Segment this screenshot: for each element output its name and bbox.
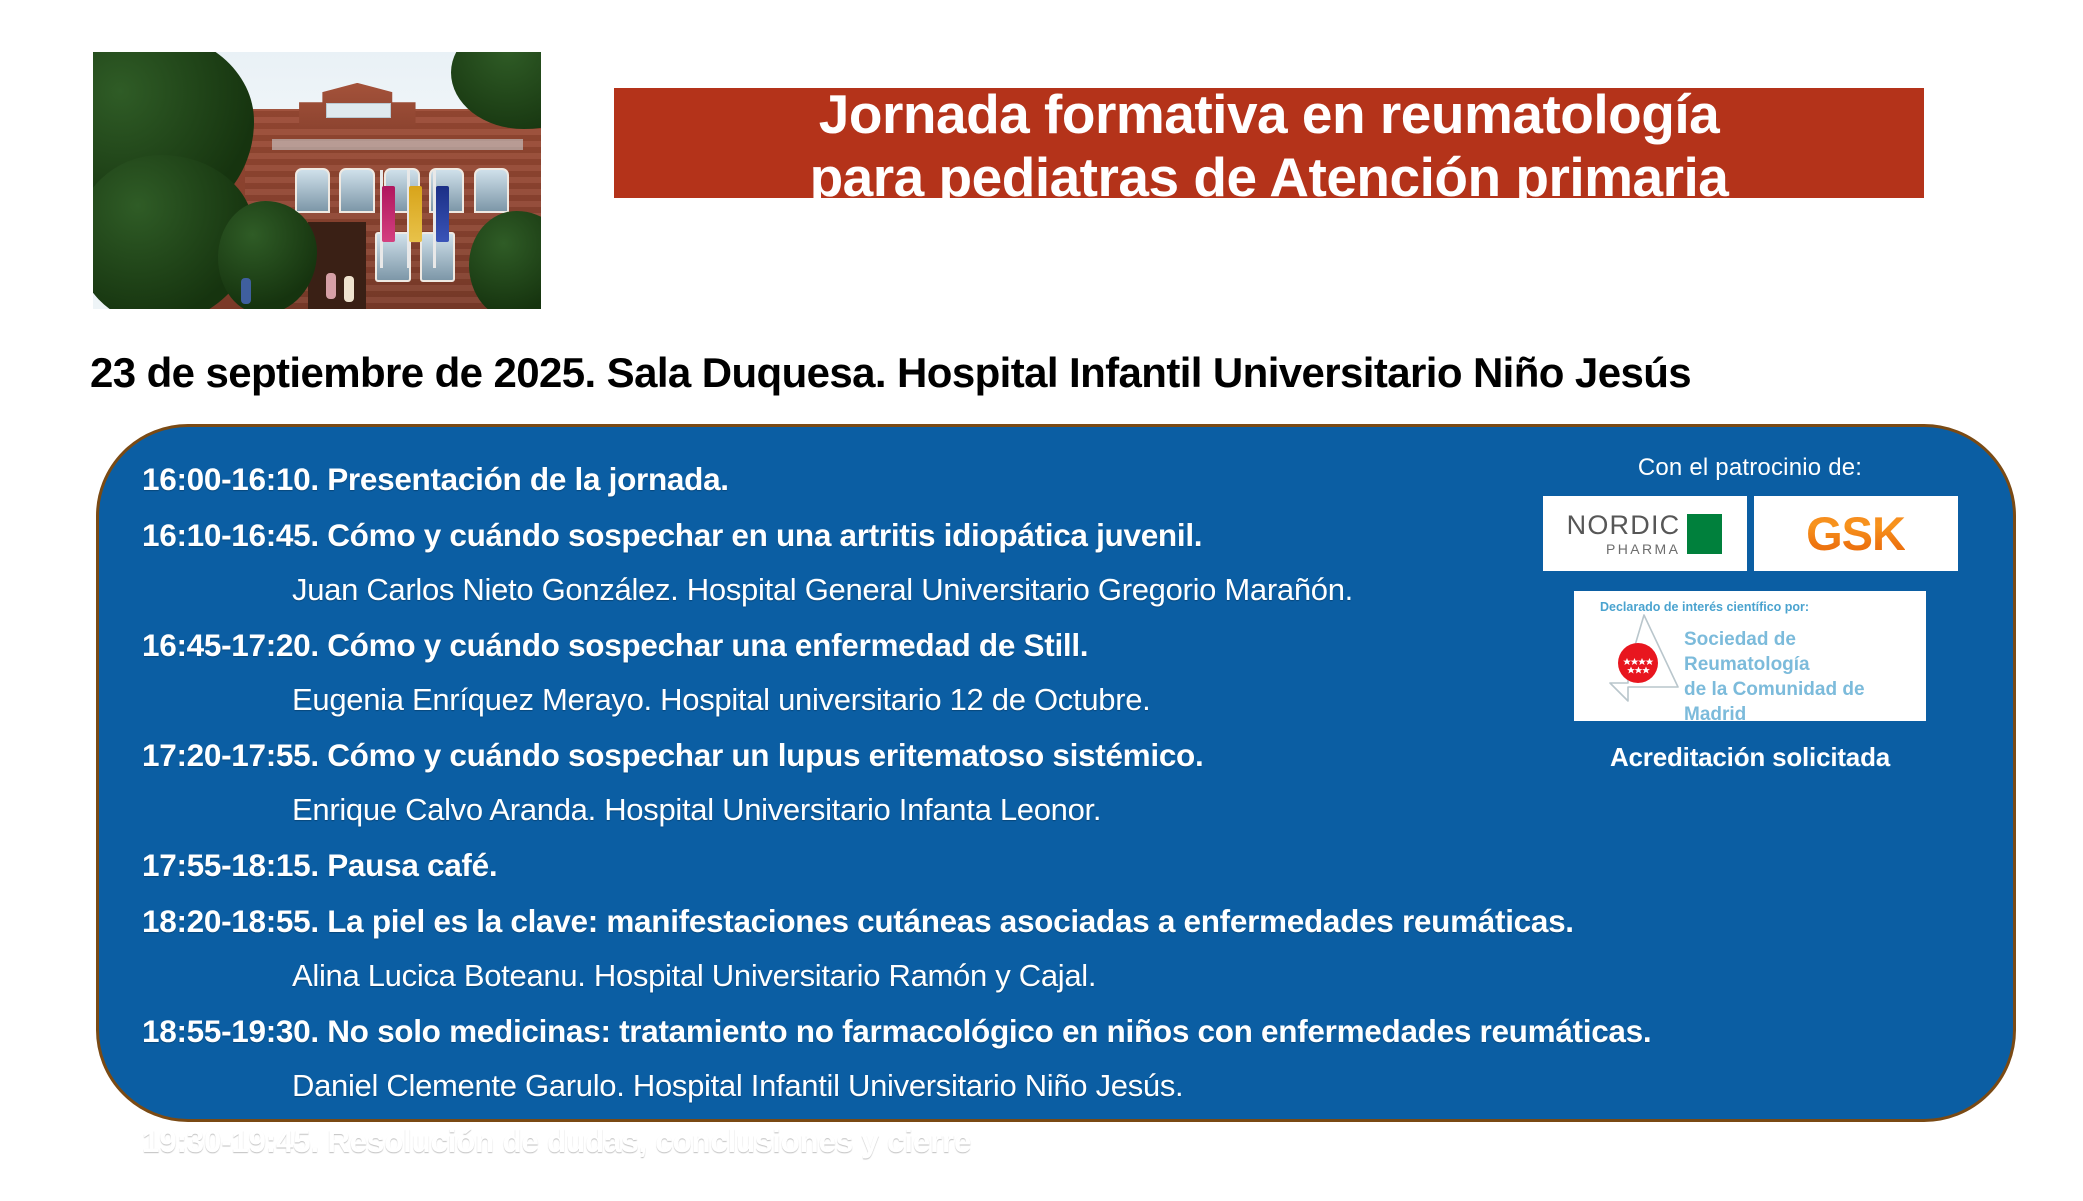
agenda-talk: 17:55-18:15. Pausa café. xyxy=(142,837,2013,893)
srcm-triangle-madrid-icon xyxy=(1598,609,1684,705)
sponsor-logo-row: NORDIC PHARMA GSK xyxy=(1541,496,1959,571)
agenda-speaker: Enrique Calvo Aranda. Hospital Universit… xyxy=(142,783,2013,837)
photo-person xyxy=(241,278,251,304)
event-date-venue: 23 de septiembre de 2025. Sala Duquesa. … xyxy=(90,349,2010,397)
photo-flag-spain xyxy=(409,186,422,242)
photo-flag-madrid xyxy=(382,186,395,242)
endorsement-society-name: Sociedad de Reumatología de la Comunidad… xyxy=(1684,627,1926,727)
photo-window xyxy=(339,168,374,213)
program-panel: 16:00-16:10. Presentación de la jornada.… xyxy=(96,424,2016,1122)
agenda-talk: 18:55-19:30. No solo medicinas: tratamie… xyxy=(142,1003,2013,1059)
banner-title-line2: para pediatras de Atención primaria xyxy=(614,146,1924,210)
gsk-logo: GSK xyxy=(1754,496,1958,571)
photo-flag-eu xyxy=(436,186,449,242)
sponsors-column: Con el patrocinio de: NORDIC PHARMA GSK … xyxy=(1541,454,1959,773)
accreditation-status: Acreditación solicitada xyxy=(1541,742,1959,773)
gsk-wordmark: GSK xyxy=(1806,506,1905,561)
photo-person xyxy=(326,273,336,299)
banner-title-line1: Jornada formativa en reumatología xyxy=(614,83,1924,147)
photo-building-plaque xyxy=(326,103,391,118)
scientific-endorsement-logo: Declarado de interés científico por: Soc… xyxy=(1574,591,1926,721)
photo-entrance-door xyxy=(308,222,366,309)
hospital-building-photo xyxy=(93,52,541,309)
nordic-subtitle: PHARMA xyxy=(1606,542,1680,556)
photo-window xyxy=(474,168,509,213)
agenda-speaker: Daniel Clemente Garulo. Hospital Infanti… xyxy=(142,1059,2013,1113)
nordic-green-square-icon xyxy=(1687,514,1722,554)
photo-tree xyxy=(218,201,317,309)
agenda-talk: 19:30-19:45. Resolución de dudas, conclu… xyxy=(142,1113,2013,1169)
agenda-talk: 18:20-18:55. La piel es la clave: manife… xyxy=(142,893,2013,949)
agenda-speaker: Alina Lucica Boteanu. Hospital Universit… xyxy=(142,949,2013,1003)
nordic-wordmark: NORDIC xyxy=(1567,512,1681,539)
title-banner: Jornada formativa en reumatología para p… xyxy=(614,88,1924,198)
photo-person xyxy=(344,276,354,302)
sponsors-heading: Con el patrocinio de: xyxy=(1541,454,1959,482)
photo-window xyxy=(295,168,330,213)
photo-building-frieze xyxy=(272,139,523,149)
endorsement-name-line2: de la Comunidad de Madrid xyxy=(1684,677,1926,727)
nordic-pharma-logo: NORDIC PHARMA xyxy=(1543,496,1747,571)
endorsement-name-line1: Sociedad de Reumatología xyxy=(1684,627,1926,677)
